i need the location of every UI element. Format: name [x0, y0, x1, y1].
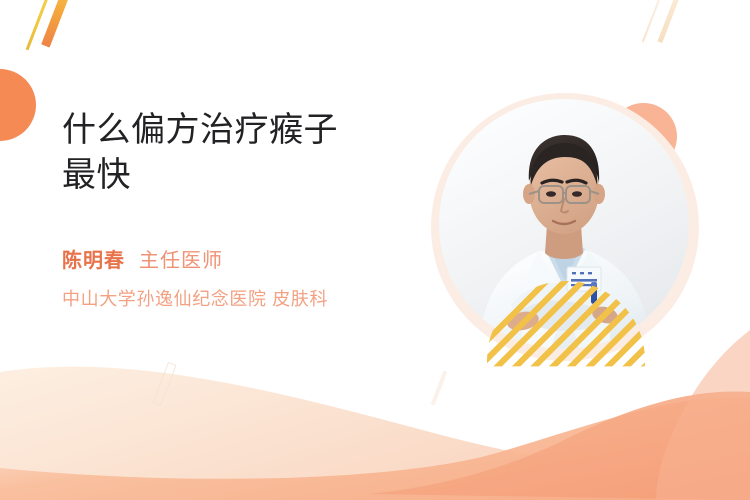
doctor-info-card: 什么偏方治疗瘊子 最快 陈明春 主任医师 中山大学孙逸仙纪念医院 皮肤科 [0, 0, 750, 500]
doctor-job-title: 主任医师 [139, 244, 223, 273]
faint-diagonal-stroke-icon [431, 370, 448, 405]
cream-diagonal-stroke-icon-2 [642, 0, 663, 43]
wave-deep-layer [368, 391, 750, 500]
wave-mid-layer [0, 397, 750, 500]
wave-light-layer [0, 367, 750, 500]
orange-semicircle-decor [0, 69, 36, 141]
page-title: 什么偏方治疗瘊子 最快 [62, 108, 422, 198]
doctor-name: 陈明春 [62, 244, 125, 273]
text-content: 什么偏方治疗瘊子 最快 陈明春 主任医师 中山大学孙逸仙纪念医院 皮肤科 [62, 108, 422, 311]
cream-diagonal-stroke-icon-1 [657, 0, 681, 43]
yellow-striped-disc-decor [487, 281, 645, 439]
doctor-affiliation: 中山大学孙逸仙纪念医院 皮肤科 [62, 285, 422, 311]
orange-diagonal-stroke-icon [41, 0, 72, 48]
outline-diagonal-stroke-icon [152, 362, 176, 406]
doctor-byline: 陈明春 主任医师 [62, 244, 422, 273]
portrait-cluster [425, 85, 715, 375]
yellow-diagonal-stroke-icon [26, 0, 52, 50]
